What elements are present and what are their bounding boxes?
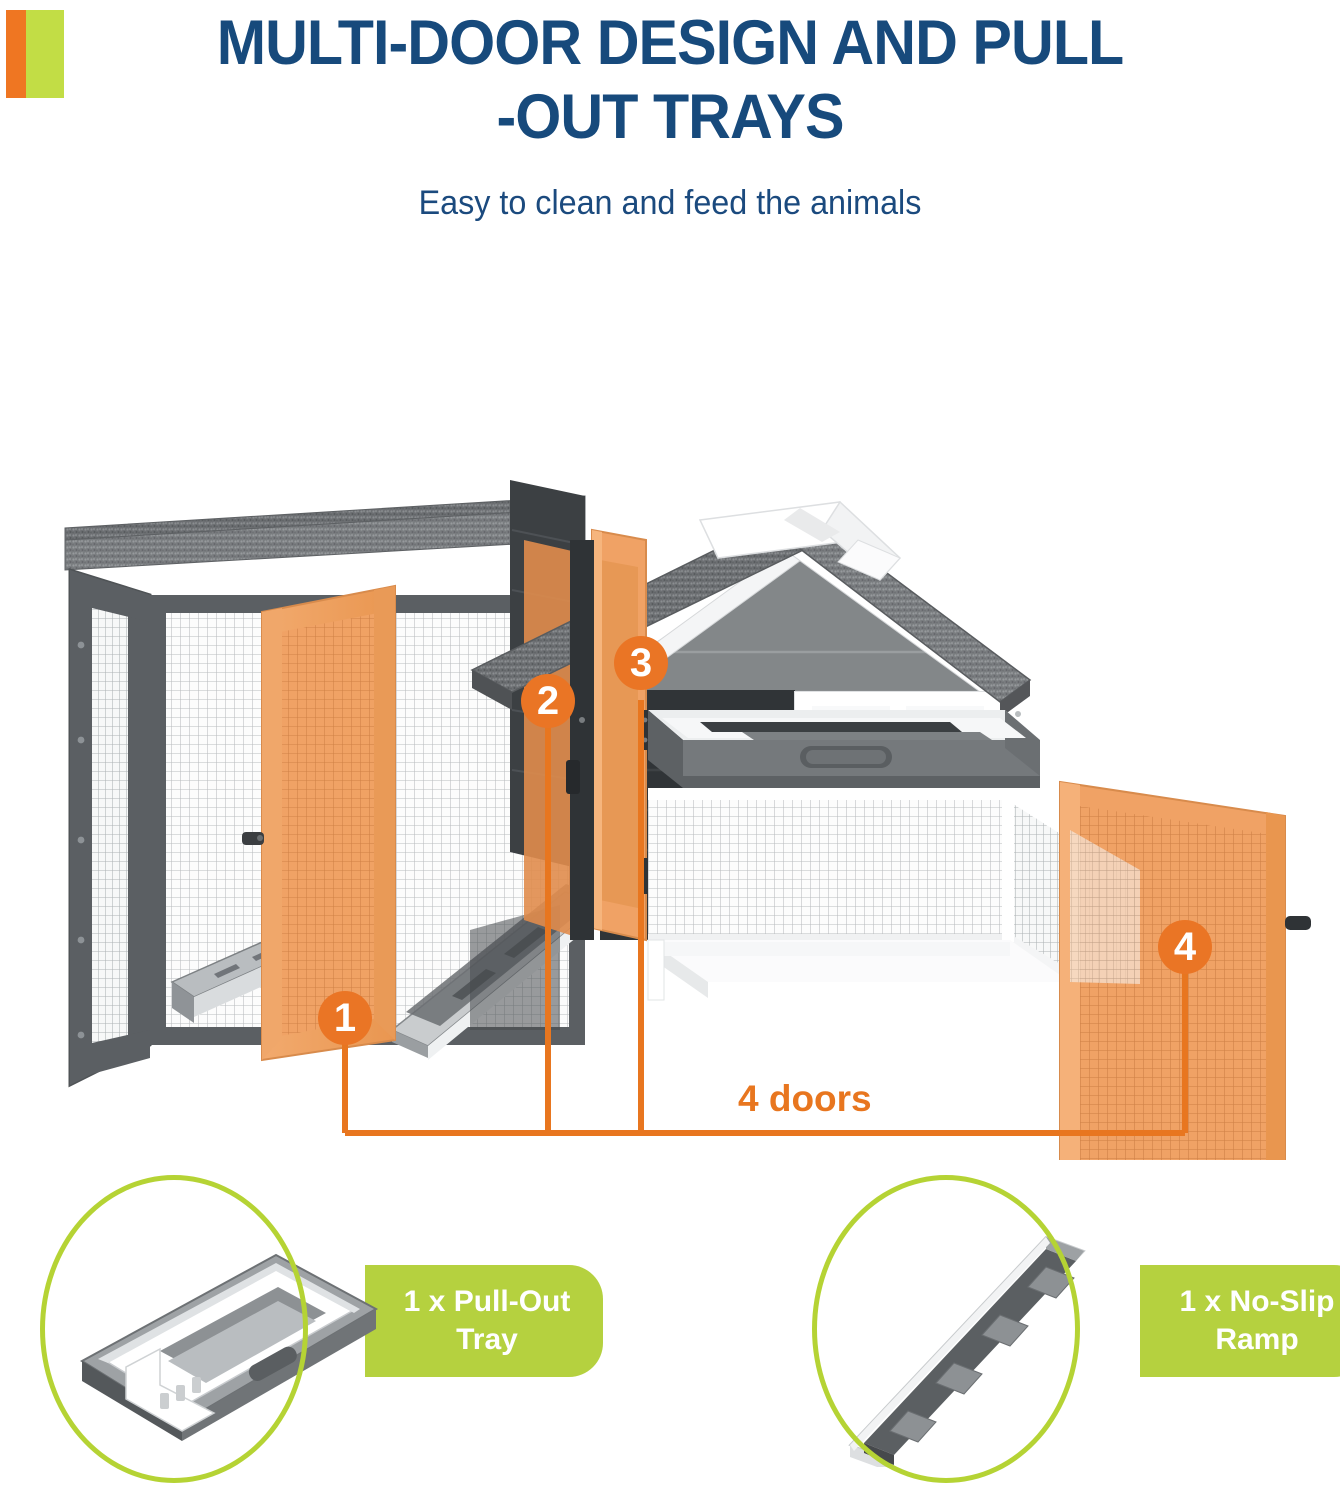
page-subtitle: Easy to clean and feed the animals — [34, 182, 1307, 224]
accessory-no-slip-ramp: 1 x No-Slip Ramp — [812, 1175, 1332, 1495]
accessory-label-no-slip-ramp: 1 x No-Slip Ramp — [1140, 1265, 1340, 1377]
door-1-panel — [242, 586, 395, 1060]
infographic-page: MULTI-DOOR DESIGN AND PULL -OUT TRAYS Ea… — [0, 0, 1340, 1500]
door-3-panel — [592, 530, 651, 940]
page-title: MULTI-DOOR DESIGN AND PULL -OUT TRAYS — [0, 6, 1340, 154]
pull-out-tray — [648, 710, 1040, 788]
hutch-illustration-svg — [0, 240, 1340, 1160]
marker-1[interactable]: 1 — [318, 991, 372, 1045]
accessory-label-pull-out-tray: 1 x Pull-Out Tray — [365, 1265, 603, 1377]
product-illustration — [0, 240, 1340, 1160]
accessory-ring-pull-out-tray — [40, 1175, 308, 1483]
marker-2[interactable]: 2 — [521, 674, 575, 728]
title-line-2: -OUT TRAYS — [40, 80, 1300, 154]
title-line-1: MULTI-DOOR DESIGN AND PULL — [40, 6, 1300, 80]
accessory-ring-no-slip-ramp — [812, 1175, 1080, 1483]
accessory-pull-out-tray: 1 x Pull-Out Tray — [40, 1175, 660, 1495]
header-section: MULTI-DOOR DESIGN AND PULL -OUT TRAYS Ea… — [0, 0, 1340, 240]
marker-3[interactable]: 3 — [614, 636, 668, 690]
marker-4[interactable]: 4 — [1158, 920, 1212, 974]
doors-count-label: 4 doors — [738, 1078, 872, 1120]
